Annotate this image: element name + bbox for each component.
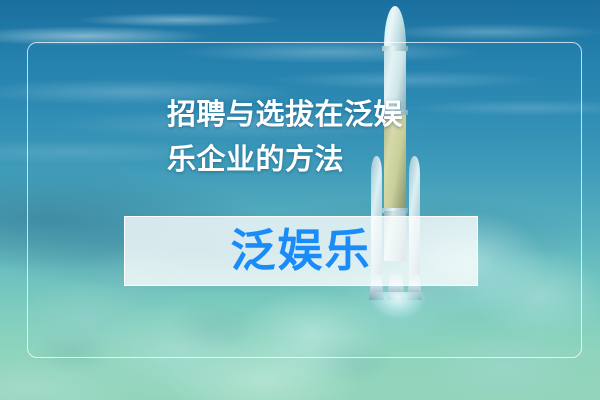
exhaust-plume bbox=[0, 0, 600, 400]
page-title: 招聘与选拔在泛娱 乐企业的方法 bbox=[167, 92, 467, 182]
poster-slide: 招聘与选拔在泛娱 乐企业的方法 泛娱乐 bbox=[0, 0, 600, 400]
rocket-ring-upper bbox=[382, 46, 408, 51]
rocket-exhaust-flame bbox=[362, 292, 434, 346]
keyword-banner-label: 泛娱乐 bbox=[230, 228, 371, 275]
page-title-line-1: 招聘与选拔在泛娱 bbox=[167, 92, 467, 137]
keyword-banner: 泛娱乐 bbox=[124, 216, 478, 286]
page-title-line-2: 乐企业的方法 bbox=[167, 137, 467, 182]
